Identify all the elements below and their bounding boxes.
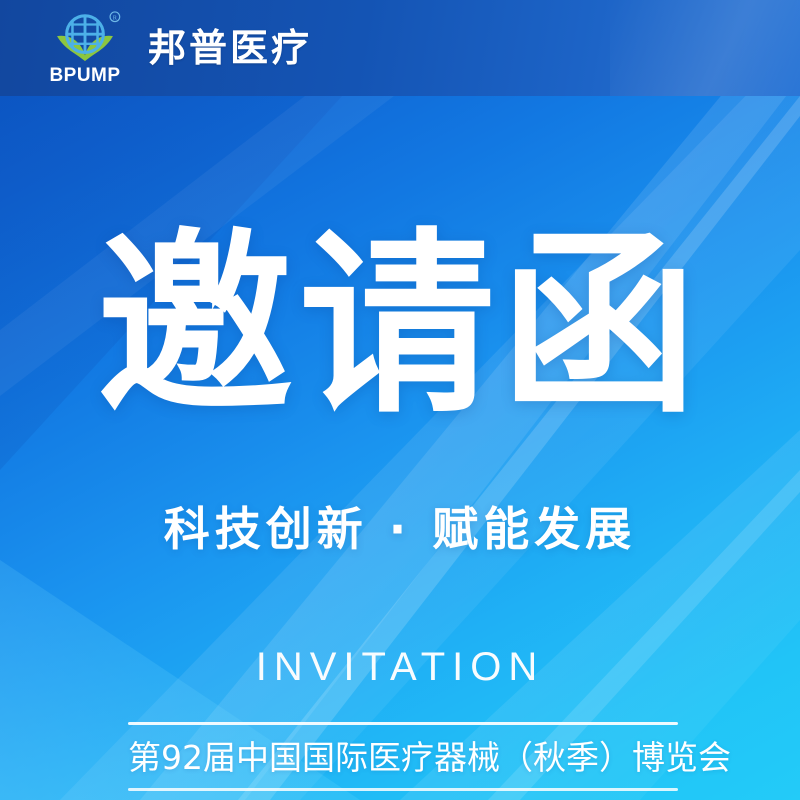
- page-subtitle: 科技创新 · 赋能发展: [0, 506, 800, 552]
- brand-name-cn: 邦普医疗: [148, 29, 312, 67]
- event-name: 第92届中国国际医疗器械（秋季）博览会: [128, 725, 678, 788]
- bpump-wordmark: BPUMP: [49, 66, 120, 85]
- page-title: 邀请函: [0, 228, 800, 424]
- invitation-poster: R BPUMP 邦普医疗 邀请函 科技创新 · 赋能发展 INVITATION …: [0, 0, 800, 800]
- brand-header: R BPUMP 邦普医疗: [0, 0, 800, 96]
- bpump-globe-leaf-icon: R BPUMP: [46, 11, 124, 85]
- page-title-en: INVITATION: [0, 647, 800, 687]
- event-footer: 第92届中国国际医疗器械（秋季）博览会: [128, 722, 678, 791]
- divider-bottom: [128, 788, 678, 791]
